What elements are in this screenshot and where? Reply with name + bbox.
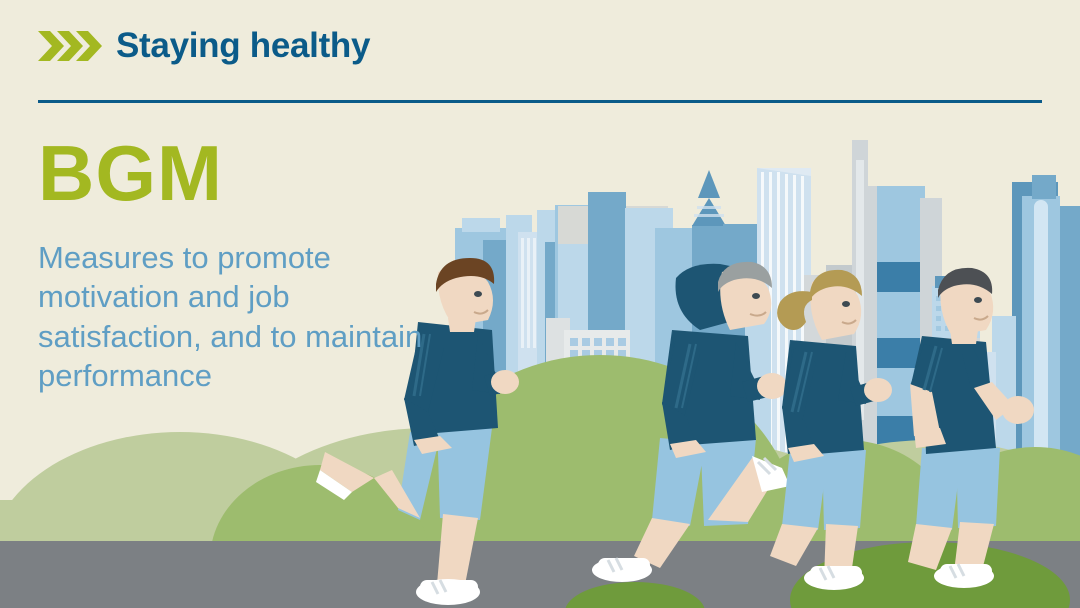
kicker-label: Staying healthy bbox=[116, 28, 370, 63]
page-subtitle: Measures to promote motivation and job s… bbox=[38, 238, 428, 395]
page-title: BGM bbox=[38, 134, 223, 212]
header-divider bbox=[38, 100, 1042, 103]
kicker: Staying healthy bbox=[38, 28, 370, 63]
triple-chevron-right-icon bbox=[38, 29, 102, 63]
slide-canvas: Staying healthy BGM Measures to promote … bbox=[0, 0, 1080, 608]
